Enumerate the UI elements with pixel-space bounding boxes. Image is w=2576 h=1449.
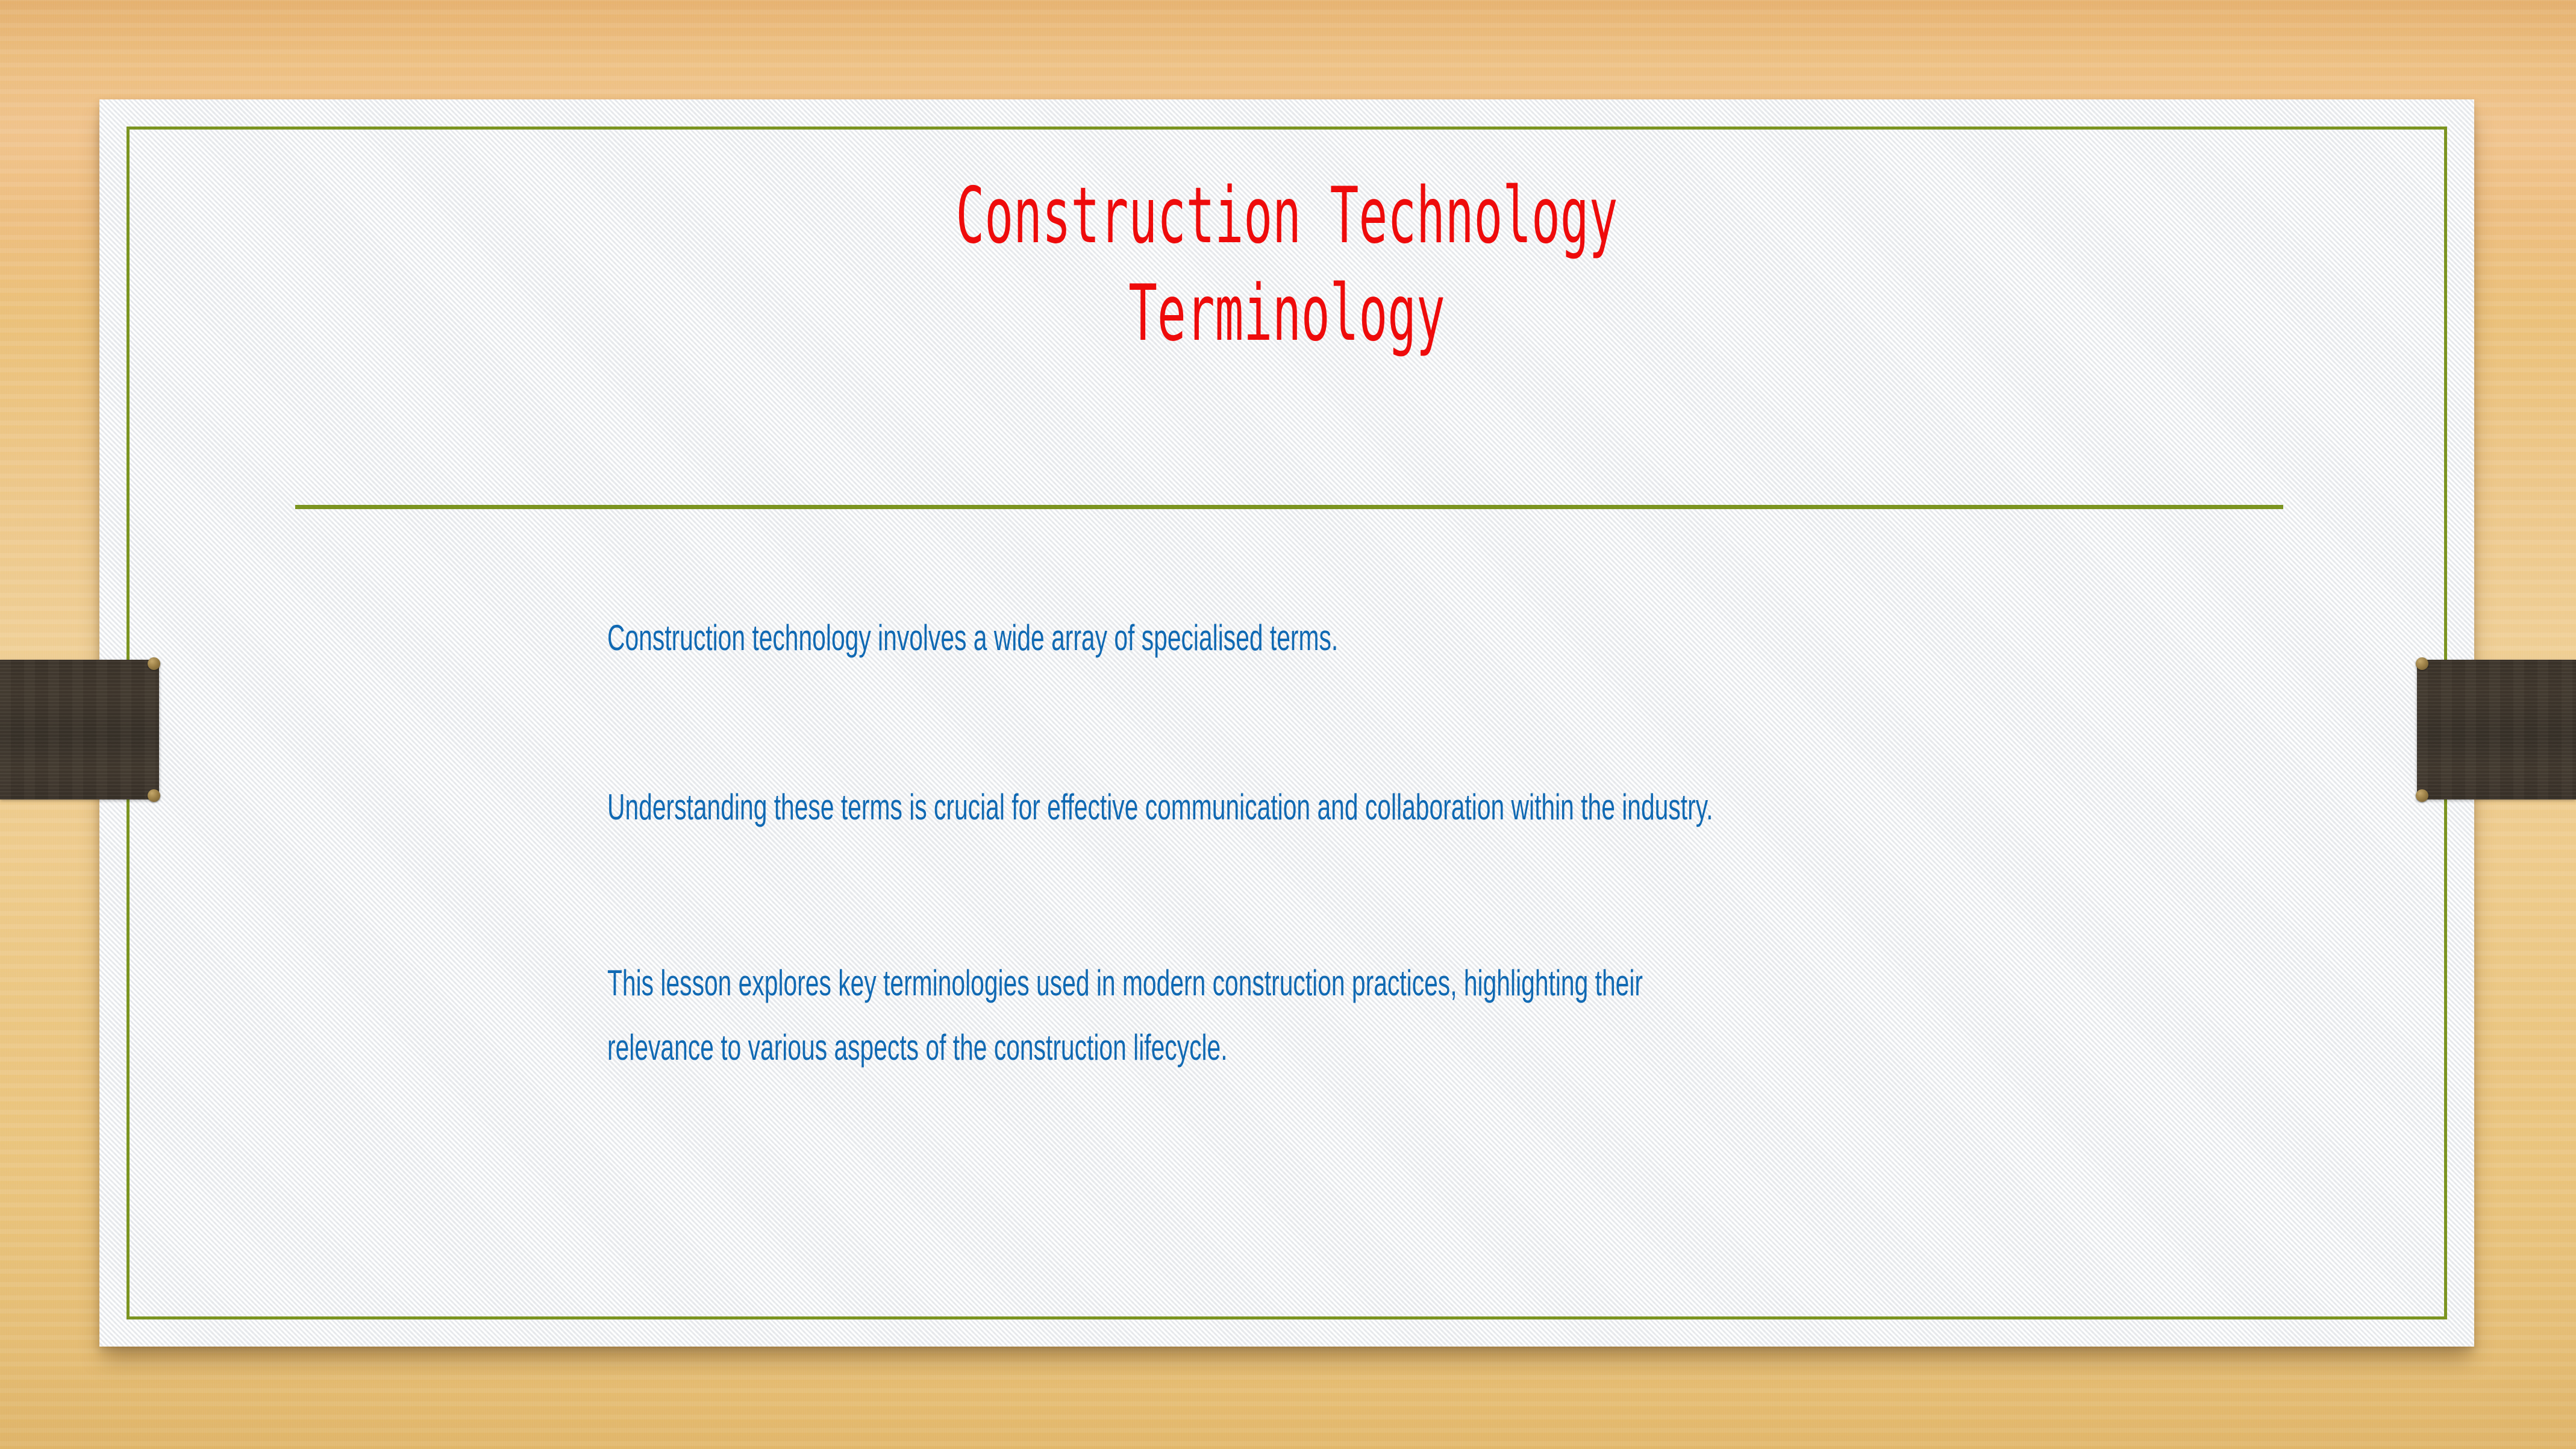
bolt-icon — [148, 657, 160, 670]
body-paragraph-1: Construction technology involves a wide … — [607, 615, 1713, 662]
bolt-icon — [148, 789, 160, 802]
bolt-icon — [2416, 789, 2428, 802]
body-paragraph-3: This lesson explores key terminologies u… — [607, 951, 1713, 1080]
left-wood-bar — [0, 660, 159, 800]
slide-body-text: Construction technology involves a wide … — [607, 615, 1713, 1080]
slide-title: Construction Technology Terminology — [551, 167, 2023, 363]
title-divider-line — [295, 505, 2283, 509]
bolt-icon — [2416, 657, 2428, 670]
right-wood-bar — [2417, 660, 2576, 800]
body-paragraph-2: Understanding these terms is crucial for… — [607, 775, 1713, 839]
